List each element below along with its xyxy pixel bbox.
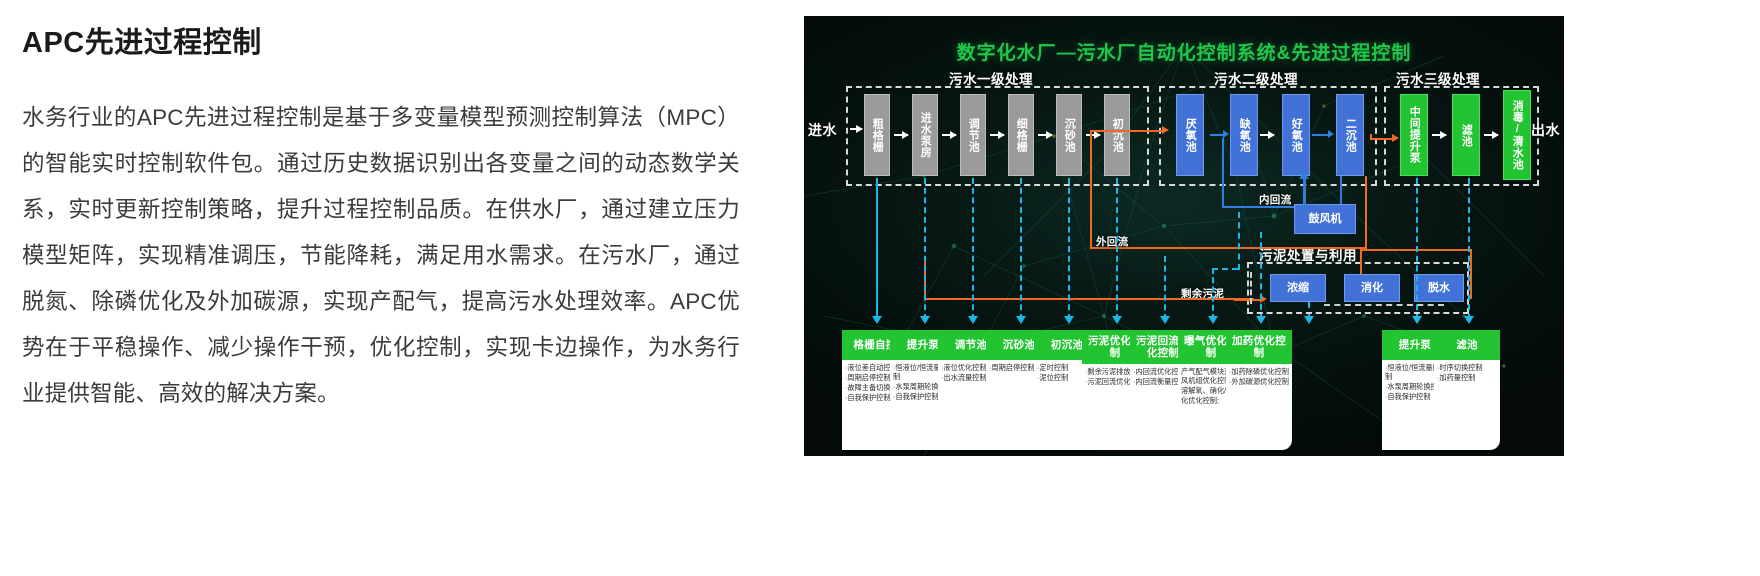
line-int-return-v (1222, 138, 1224, 206)
unit-grit-chamber[interactable]: 沉砂池 (1056, 94, 1082, 176)
arrow-s3-feed (1392, 134, 1399, 142)
signal-line-interpump (1416, 178, 1418, 320)
signal-line-grit (1068, 178, 1070, 320)
signal-arrow-finescreen (1016, 316, 1026, 324)
signal-arrow-sludgereturn (1208, 316, 1218, 324)
unit-anaerobic-tank[interactable]: 厌氧池 (1176, 94, 1204, 176)
unit-inlet-pump-room[interactable]: 进水泵房 (912, 94, 938, 176)
line-anoxic-in (1210, 134, 1223, 136)
group-label-stage3: 污水三级处理 (1396, 68, 1480, 88)
diagram-title: 数字化水厂—污水厂自动化控制系统&先进过程控制 (804, 38, 1564, 65)
signal-line-filter (1468, 178, 1470, 320)
outlet-label: 出水 (1531, 120, 1560, 140)
signal-arrow-sludgeopt (1160, 316, 1170, 324)
apc-card-title: 滤池 (1434, 330, 1500, 360)
article-panel: APC先进过程控制 水务行业的APC先进过程控制是基于多变量模型预测控制算法（M… (0, 0, 782, 576)
signal-arrow-primary (1112, 316, 1122, 324)
line-ext-return-in (1092, 130, 1162, 132)
apc-card-body: ·加药除磷优化控制 ·外加碳源优化控制 (1226, 364, 1292, 450)
slide-root: APC先进过程控制 水务行业的APC先进过程控制是基于多变量模型预测控制算法（M… (0, 0, 1760, 576)
process-flow-diagram: 数字化水厂—污水厂自动化控制系统&先进过程控制 污水一级处理 污水二级处理 污水… (804, 16, 1564, 456)
signal-line-sludgereturn-h (1212, 268, 1238, 270)
signal-line-pump (924, 178, 926, 320)
apc-card-title: 加药优化控制 (1226, 330, 1292, 364)
signal-line-equalization (972, 178, 974, 320)
apc-card-body: ·时序切换控制 ·加药量控制 (1434, 360, 1500, 450)
signal-arrow-dosing (1304, 316, 1314, 324)
signal-arrow-aeration (1256, 316, 1266, 324)
unit-thickening[interactable]: 浓缩 (1270, 274, 1326, 302)
unit-fine-screen[interactable]: 细格栅 (1008, 94, 1034, 176)
arrow-s3-1 (1432, 134, 1446, 136)
unit-primary-clarifier[interactable]: 初沉池 (1104, 94, 1130, 176)
page-title: APC先进过程控制 (22, 26, 740, 61)
arrow-s1-3 (990, 134, 1004, 136)
arrow-s3-2 (1484, 134, 1498, 136)
line-sludge-in (1234, 299, 1262, 301)
label-external-return: 外回流 (1096, 234, 1128, 249)
signal-arrow-filter (1464, 316, 1474, 324)
group-label-stage1: 污水一级处理 (949, 68, 1033, 88)
unit-digestion[interactable]: 消化 (1344, 274, 1400, 302)
signal-arrow-interpump (1412, 316, 1422, 324)
unit-intermediate-pump[interactable]: 中间提升泵 (1400, 94, 1428, 176)
signal-line-finescreen (1020, 178, 1022, 320)
line-blower-up (1303, 178, 1306, 206)
apc-item: ·加药除磷优化控制 (1229, 367, 1289, 376)
arrow-s2-2 (1260, 134, 1274, 136)
arrow-blower-up (1299, 172, 1309, 179)
arrow-s1-4 (1038, 134, 1052, 136)
signal-arrow-pump (920, 316, 930, 324)
arrow-anoxic-in (1223, 130, 1229, 138)
unit-blower[interactable]: 鼓风机 (1294, 204, 1356, 234)
line-s3-feed (1370, 138, 1394, 140)
apc-card-filter[interactable]: 滤池 ·时序切换控制 ·加药量控制 (1434, 330, 1500, 450)
signal-line-sludgereturn-v2 (1238, 212, 1240, 270)
signal-arrow-equalization (968, 316, 978, 324)
line-ext-return-v2 (1090, 130, 1092, 249)
signal-arrow-screen (872, 316, 882, 324)
signal-line-screen (876, 178, 878, 320)
apc-item: ·时序切换控制 (1437, 363, 1497, 372)
group-label-stage2: 污水二级处理 (1214, 68, 1298, 88)
unit-aerobic-tank[interactable]: 好氧池 (1282, 94, 1310, 176)
unit-equalization-tank[interactable]: 调节池 (960, 94, 986, 176)
article-body-text: 水务行业的APC先进过程控制是基于多变量模型预测控制算法（MPC）的智能实时控制… (22, 95, 740, 417)
arrow-secondary-in (1328, 130, 1334, 138)
signal-arrow-grit (1064, 316, 1074, 324)
signal-line-sludgereturn (1212, 268, 1214, 320)
unit-secondary-clarifier[interactable]: 二沉池 (1336, 94, 1364, 176)
apc-item: ·加药量控制 (1437, 373, 1497, 382)
unit-anoxic-tank[interactable]: 缺氧池 (1230, 94, 1258, 176)
unit-dewatering[interactable]: 脱水 (1414, 274, 1464, 302)
signal-line-aeration (1260, 232, 1262, 320)
arrow-s1-5 (1086, 134, 1100, 136)
line-ext-return-v1 (1365, 176, 1367, 249)
route-dash-sludge-bottom (1324, 304, 1444, 306)
arrow-ext-return (1162, 126, 1169, 134)
unit-filter-tank[interactable]: 滤池 (1452, 94, 1480, 176)
arrow-s1-1 (894, 134, 908, 136)
unit-disinfection-clearwater[interactable]: 消毒/清水池 (1503, 90, 1531, 180)
apc-card-dosing[interactable]: 加药优化控制 ·加药除磷优化控制 ·外加碳源优化控制 (1226, 330, 1292, 450)
label-internal-return: 内回流 (1259, 192, 1291, 207)
inlet-label: 进水 (808, 120, 837, 140)
signal-line-sludgeopt (1164, 256, 1166, 320)
line-ext-return-h (1090, 247, 1367, 249)
line-secondary-in (1312, 134, 1328, 136)
arrow-inlet (850, 128, 862, 130)
signal-line-primary (1116, 178, 1118, 320)
arrow-s1-2 (942, 134, 956, 136)
route-dash-sludge-left (1250, 272, 1252, 304)
diagram-panel: 数字化水厂—污水厂自动化控制系统&先进过程控制 污水一级处理 污水二级处理 污水… (782, 0, 1760, 576)
apc-item: ·外加碳源优化控制 (1229, 377, 1289, 386)
unit-coarse-screen[interactable]: 粗格栅 (864, 94, 890, 176)
line-sludge-far-right (1470, 249, 1472, 299)
